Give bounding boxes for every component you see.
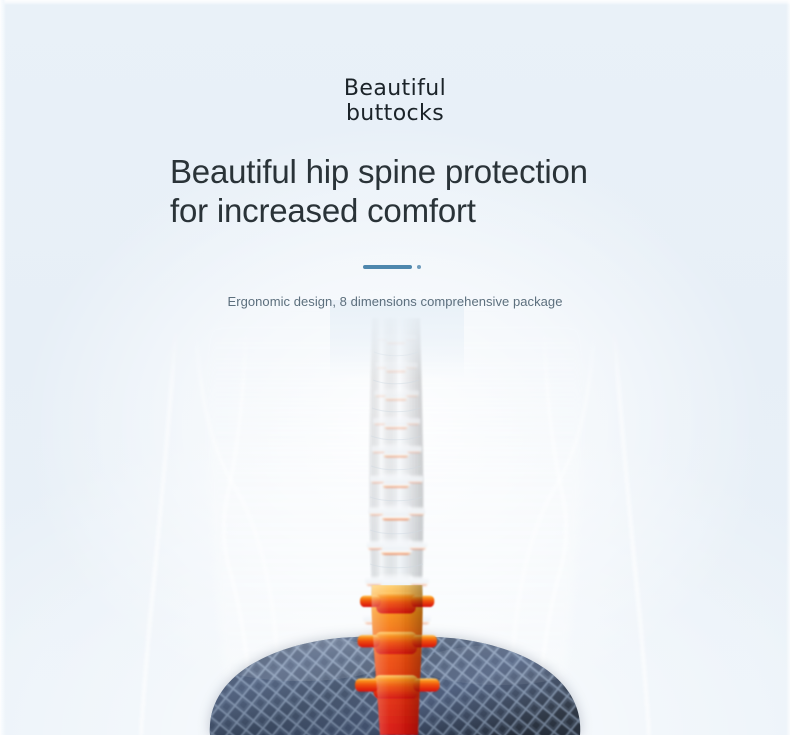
brand-line-2: buttocks <box>0 101 790 126</box>
headline-line-1: Beautiful hip spine protection <box>170 152 640 191</box>
divider-bar <box>363 265 412 269</box>
top-edge-highlight <box>0 0 790 5</box>
left-edge-highlight <box>0 0 6 735</box>
headline-line-2: for increased comfort <box>170 191 640 230</box>
brand-line-1: Beautiful <box>0 76 790 101</box>
right-edge-highlight <box>786 0 790 735</box>
product-banner: Beautiful buttocks Beautiful hip spine p… <box>0 0 790 735</box>
page-title: Beautiful hip spine protection for incre… <box>170 152 640 230</box>
divider <box>0 263 790 271</box>
subtitle: Ergonomic design, 8 dimensions comprehen… <box>0 293 790 310</box>
divider-dot <box>417 265 421 269</box>
brand-wordmark: Beautiful buttocks <box>0 76 790 126</box>
